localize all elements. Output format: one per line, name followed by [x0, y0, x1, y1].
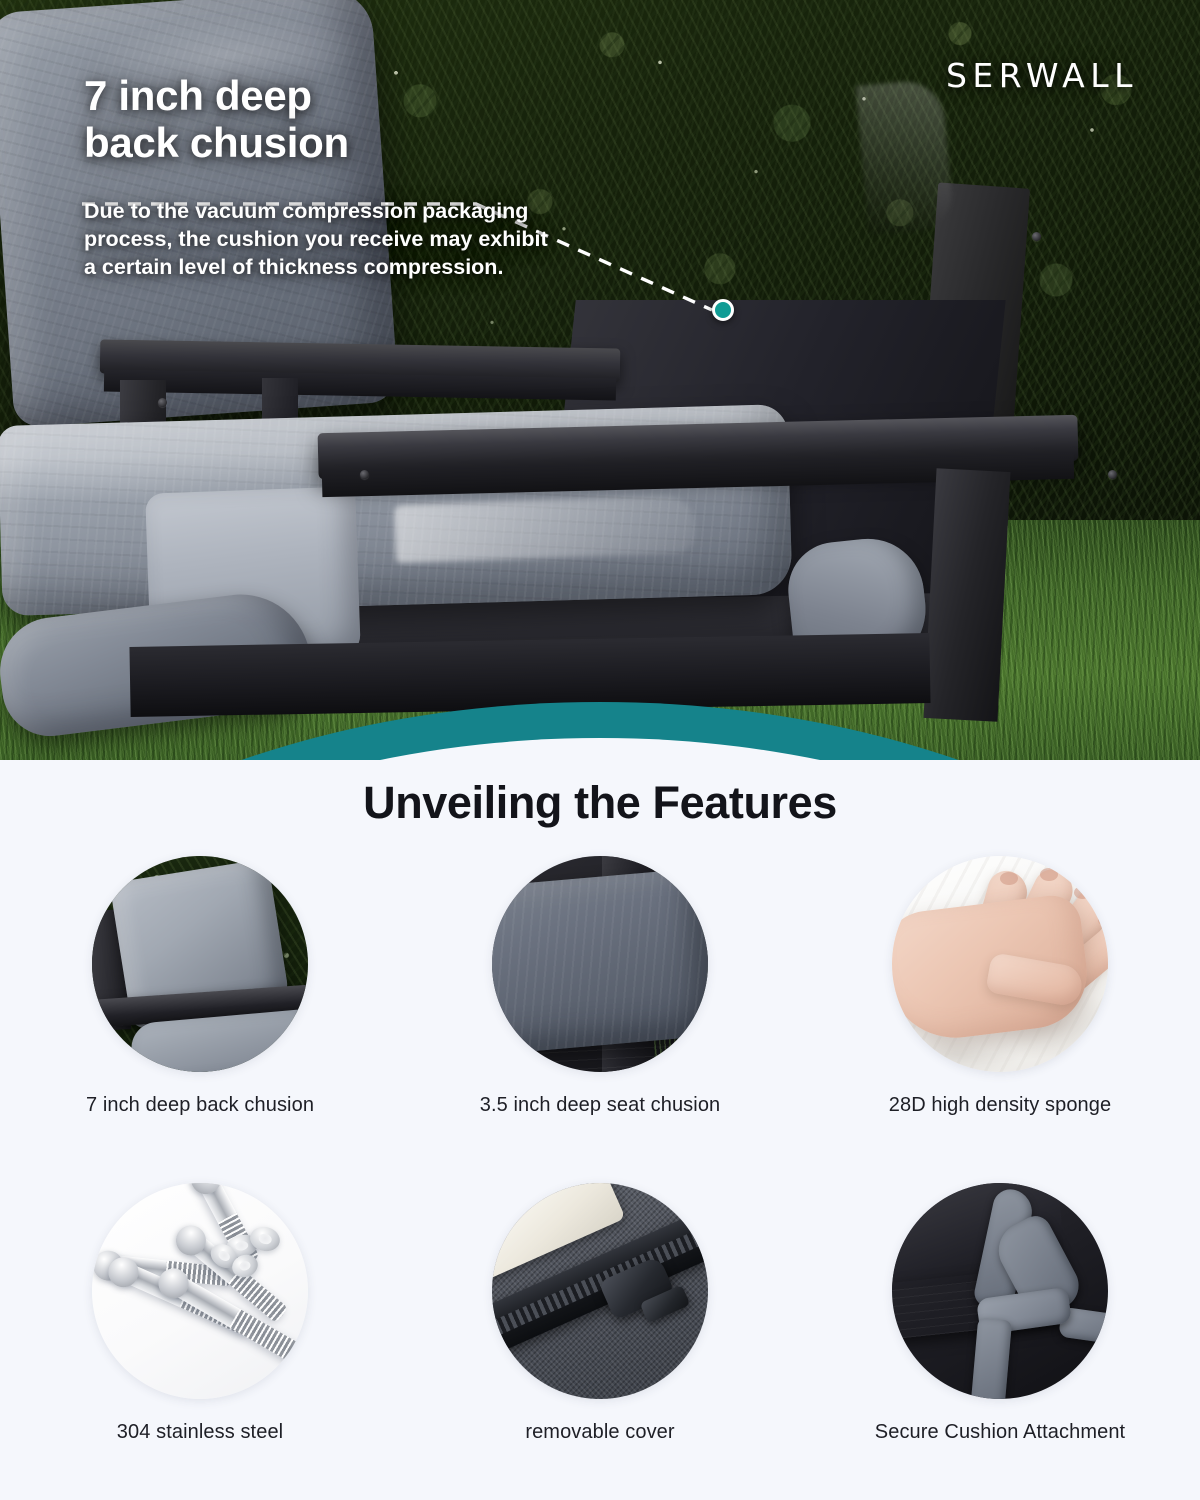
feature-card-removable-cover[interactable]: removable cover	[400, 1183, 800, 1444]
zipper-thumbnail[interactable]	[492, 1183, 708, 1399]
seat-cushion-thumbnail[interactable]	[492, 856, 708, 1072]
feature-card-sponge[interactable]: 28D high density sponge	[800, 856, 1200, 1117]
screw-icon	[158, 398, 167, 407]
hero-headline: 7 inch deep back chusion	[84, 72, 554, 166]
feature-caption: 7 inch deep back chusion	[86, 1094, 314, 1117]
stainless-steel-thumbnail[interactable]	[92, 1183, 308, 1399]
fingernail	[1040, 868, 1058, 881]
back-cushion-thumbnail[interactable]	[92, 856, 308, 1072]
cushion-tie-thumbnail[interactable]	[892, 1183, 1108, 1399]
fingernail	[1000, 872, 1018, 885]
feature-card-seat-cushion[interactable]: 3.5 inch deep seat chusion	[400, 856, 800, 1117]
feature-caption: 304 stainless steel	[117, 1421, 283, 1444]
thumb-seat-cushion	[492, 868, 708, 1056]
feature-caption: Secure Cushion Attachment	[875, 1421, 1125, 1444]
screw-icon	[1108, 470, 1117, 479]
features-row: 7 inch deep back chusion 3.5 inch deep s…	[0, 856, 1200, 1117]
seat-cushion-highlight	[394, 495, 696, 563]
sponge-thumbnail[interactable]	[892, 856, 1108, 1072]
back-cushion-crease	[856, 79, 955, 236]
features-grid: 7 inch deep back chusion 3.5 inch deep s…	[0, 856, 1200, 1444]
screw-icon	[360, 470, 369, 479]
screw-icon	[1032, 232, 1041, 241]
feature-card-stainless-steel[interactable]: 304 stainless steel	[0, 1183, 400, 1444]
features-section: Unveiling the Features 7 inch deep back …	[0, 760, 1200, 1500]
fingernail	[1074, 886, 1091, 899]
hero-copy-block: 7 inch deep back chusion Due to the vacu…	[84, 72, 554, 282]
features-row: 304 stainless steel removable cover	[0, 1183, 1200, 1444]
feature-caption: 3.5 inch deep seat chusion	[480, 1094, 721, 1117]
fingernail	[1098, 914, 1108, 926]
feature-caption: 28D high density sponge	[889, 1094, 1111, 1117]
feature-card-back-cushion[interactable]: 7 inch deep back chusion	[0, 856, 400, 1117]
feature-card-cushion-attachment[interactable]: Secure Cushion Attachment	[800, 1183, 1200, 1444]
callout-dot-icon	[712, 299, 734, 321]
brand-logo: SERWALL	[946, 56, 1138, 95]
features-heading: Unveiling the Features	[0, 777, 1200, 829]
hero-body-text: Due to the vacuum compression packaging …	[84, 198, 554, 282]
feature-caption: removable cover	[525, 1421, 674, 1444]
tie-tail	[970, 1318, 1012, 1399]
